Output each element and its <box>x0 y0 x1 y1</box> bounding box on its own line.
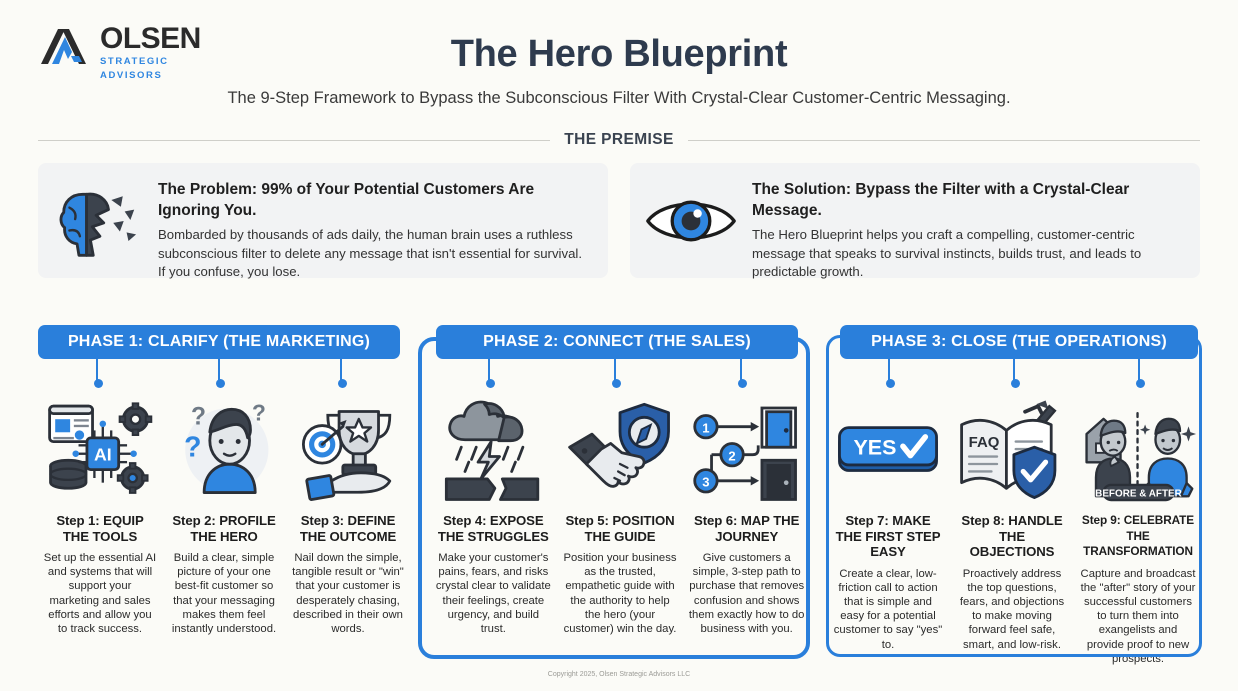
premise-body-text: Bombarded by thousands of ads daily, the… <box>158 226 592 282</box>
step-title: Step 6: MAP THE JOURNEY <box>688 513 805 544</box>
divider-rule-left <box>38 140 550 141</box>
storm-cloud-icon <box>437 391 549 509</box>
step-card: BEFORE & AFTER Step 9: CELEBRATE THE TRA… <box>1074 391 1202 666</box>
before-after-label: BEFORE & AFTER <box>1095 488 1182 499</box>
before-after-icon: BEFORE & AFTER <box>1079 391 1197 509</box>
connector-dot <box>886 379 895 388</box>
step-card: Step 5: POSITION THE GUIDE Position your… <box>557 391 684 636</box>
faq-label: FAQ <box>969 434 1000 451</box>
premise-body-text: The Hero Blueprint helps you craft a com… <box>752 226 1184 282</box>
phase-2-connectors <box>430 359 810 391</box>
phase-2: PHASE 2: CONNECT (THE SALES) <box>430 325 810 665</box>
connector-dot <box>738 379 747 388</box>
connector-stem <box>340 359 342 381</box>
step-description: Proactively address the top questions, f… <box>955 567 1069 652</box>
connector-stem <box>614 359 616 381</box>
step-card: Step 4: EXPOSE THE STRUGGLES Make your c… <box>430 391 557 636</box>
premise-card-problem: The Problem: 99% of Your Potential Custo… <box>38 163 608 278</box>
svg-text:3: 3 <box>702 474 709 489</box>
step-description: Set up the essential AI and systems that… <box>43 551 157 636</box>
premise-heading: The Problem: 99% of Your Potential Custo… <box>158 179 592 221</box>
connector-stem <box>1138 359 1140 381</box>
ai-chip-label: AI <box>94 444 112 464</box>
step-description: Nail down the simple, tangible result or… <box>291 551 405 636</box>
step-title: Step 4: EXPOSE THE STRUGGLES <box>435 513 552 544</box>
divider-rule-right <box>688 140 1200 141</box>
infographic-page: OLSEN STRATEGIC ADVISORS The Hero Bluepr… <box>0 0 1238 691</box>
step-card: FAQ Step 8: HANDLE THE OBJECTIONS Proact… <box>950 391 1074 666</box>
connector-dot <box>338 379 347 388</box>
connector-dot <box>216 379 225 388</box>
premise-heading: The Solution: Bypass the Filter with a C… <box>752 179 1184 221</box>
step-card: Step 3: DEFINE THE OUTCOME Nail down the… <box>286 391 410 636</box>
step-description: Make your customer's pains, fears, and r… <box>435 551 552 636</box>
yes-label: YES <box>853 436 896 460</box>
phase-3-connectors <box>826 359 1202 391</box>
copyright-footer: Copyright 2025, Olsen Strategic Advisors… <box>0 671 1238 678</box>
eye-icon <box>644 177 738 265</box>
connector-dot <box>486 379 495 388</box>
step-description: Give customers a simple, 3-step path to … <box>688 551 805 636</box>
connector-dot <box>1011 379 1020 388</box>
premise-cards: The Problem: 99% of Your Potential Custo… <box>38 163 1200 278</box>
phase-1: PHASE 1: CLARIFY (THE MARKETING) <box>38 325 410 665</box>
phase-3: PHASE 3: CLOSE (THE OPERATIONS) YES <box>826 325 1202 665</box>
connector-stem <box>218 359 220 381</box>
svg-text:2: 2 <box>728 448 735 463</box>
persona-question-icon: ? ? ? <box>172 391 276 509</box>
svg-text:?: ? <box>252 400 266 426</box>
faq-shield-icon: FAQ <box>956 391 1068 509</box>
svg-text:?: ? <box>184 432 201 464</box>
phase-1-header: PHASE 1: CLARIFY (THE MARKETING) <box>38 325 400 359</box>
premise-divider: THE PREMISE <box>38 130 1200 150</box>
three-step-path-icon: 1 2 3 <box>691 391 803 509</box>
step-card: 1 2 3 Step 6: MAP THE JOURNEY Give custo… <box>683 391 810 636</box>
step-description: Position your business as the trusted, e… <box>562 551 679 636</box>
handshake-shield-icon <box>564 391 676 509</box>
premise-card-solution: The Solution: Bypass the Filter with a C… <box>630 163 1200 278</box>
phase-2-header: PHASE 2: CONNECT (THE SALES) <box>436 325 798 359</box>
yes-button-icon: YES <box>832 391 944 509</box>
step-title: Step 7: MAKE THE FIRST STEP EASY <box>831 513 945 560</box>
connector-dot <box>1136 379 1145 388</box>
ai-systems-icon: AI <box>44 391 156 509</box>
phase-1-steps: AI <box>38 391 410 636</box>
brain-icon <box>52 177 144 265</box>
phase-1-connectors <box>38 359 410 391</box>
step-card: AI <box>38 391 162 636</box>
page-title: The Hero Blueprint <box>0 33 1238 76</box>
step-title: Step 5: POSITION THE GUIDE <box>562 513 679 544</box>
step-description: Create a clear, low-friction call to act… <box>831 567 945 652</box>
phase-3-steps: YES Step 7: MAKE THE FIRST STEP EASY Cre… <box>826 391 1202 666</box>
step-description: Build a clear, simple picture of your on… <box>167 551 281 636</box>
phases-container: PHASE 1: CLARIFY (THE MARKETING) <box>0 325 1238 665</box>
trophy-target-icon <box>294 391 402 509</box>
connector-stem <box>740 359 742 381</box>
premise-section-label: THE PREMISE <box>564 131 673 149</box>
connector-stem <box>888 359 890 381</box>
step-title: Step 3: DEFINE THE OUTCOME <box>291 513 405 544</box>
connector-stem <box>1013 359 1015 381</box>
step-description: Capture and broadcast the "after" story … <box>1079 567 1197 666</box>
connector-stem <box>488 359 490 381</box>
connector-stem <box>96 359 98 381</box>
connector-dot <box>94 379 103 388</box>
svg-text:?: ? <box>191 403 206 430</box>
phase-2-steps: Step 4: EXPOSE THE STRUGGLES Make your c… <box>430 391 810 636</box>
step-title: Step 9: CELEBRATE THE TRANSFORMATION <box>1079 513 1197 560</box>
step-card: YES Step 7: MAKE THE FIRST STEP EASY Cre… <box>826 391 950 666</box>
step-title: Step 8: HANDLE THE OBJECTIONS <box>955 513 1069 560</box>
connector-dot <box>612 379 621 388</box>
page-subtitle: The 9-Step Framework to Bypass the Subco… <box>0 89 1238 108</box>
step-title: Step 1: EQUIP THE TOOLS <box>43 513 157 544</box>
step-card: ? ? ? Step 2: PROFILE THE HERO Build a c… <box>162 391 286 636</box>
step-title: Step 2: PROFILE THE HERO <box>167 513 281 544</box>
phase-3-header: PHASE 3: CLOSE (THE OPERATIONS) <box>840 325 1198 359</box>
svg-text:1: 1 <box>702 420 709 435</box>
